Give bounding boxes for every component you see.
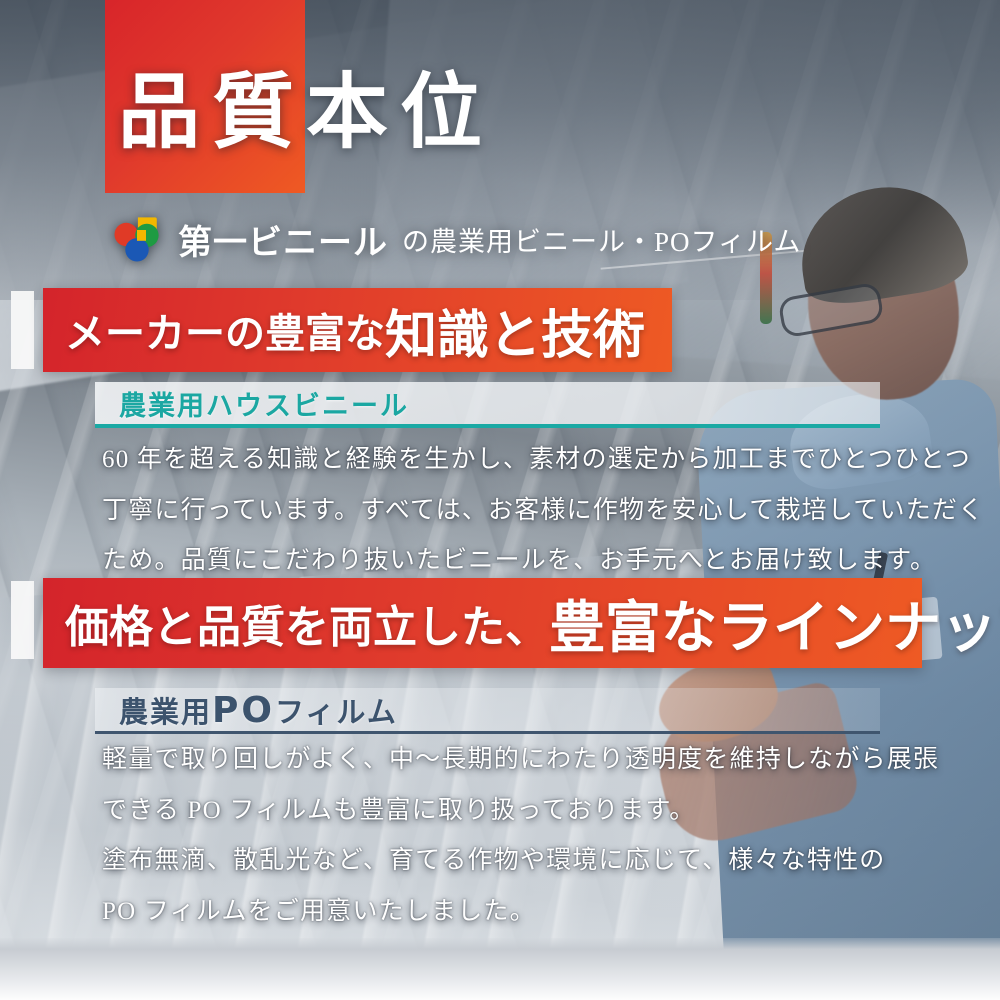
accent-tick-1 [11, 291, 34, 369]
section-body-vinyl: 60 年を超える知識と経験を生かし、素材の選定から加工までひとつひとつ 丁寧に行… [102, 440, 902, 592]
section-heading-po-prefix: 農業用 [119, 695, 212, 729]
brand-tagline: の農業用ビニール・POフィルム [402, 220, 801, 259]
brand-line: 第一ビニール の農業用ビニール・POフィルム [110, 212, 801, 266]
flower-pinwheel-logo-icon [110, 212, 164, 266]
body-line: 60 年を超える知識と経験を生かし、素材の選定から加工までひとつひとつ [102, 440, 902, 481]
section-heading-vinyl-label: 農業用ハウスビニール [119, 384, 409, 423]
banner-price-quality-lineup: 価格と品質を両立した、 豊富なラインナップ [43, 578, 922, 668]
section-heading-po-suffix: フィルム [275, 695, 398, 729]
page-title: 品質本位 [118, 72, 718, 154]
banner-2-large-text: 豊富なラインナップ [549, 583, 1000, 664]
content-overlay: 品質本位 第一ビニール の農業用ビニール・POフィルム メーカーの豊富な 知識と… [0, 0, 1000, 1000]
brand-name: 第一ビニール [178, 215, 388, 264]
section-heading-po-label: 農業用POフィルム [119, 689, 398, 731]
banner-1-large-text: 知識と技術 [385, 293, 645, 368]
banner-2-small-text: 価格と品質を両立した、 [65, 591, 549, 655]
body-line: ため。品質にこだわり抜いたビニールを、お手元へとお届け致します。 [102, 541, 902, 582]
banner-1-small-text: メーカーの豊富な [65, 301, 385, 359]
body-line: できる PO フィルムも豊富に取り扱っております。 [102, 791, 902, 832]
accent-tick-2 [11, 581, 34, 659]
section-heading-po-mark: PO [212, 690, 275, 731]
body-line: PO フィルムをご用意いたしました。 [102, 892, 902, 933]
body-line: 軽量で取り回しがよく、中〜長期的にわたり透明度を維持しながら展張 [102, 740, 902, 781]
banner-knowledge-technology: メーカーの豊富な 知識と技術 [43, 288, 672, 372]
body-line: 塗布無滴、散乱光など、育てる作物や環境に応じて、様々な特性の [102, 841, 902, 882]
promo-banner-page: 品質本位 第一ビニール の農業用ビニール・POフィルム メーカーの豊富な 知識と… [0, 0, 1000, 1000]
section-heading-vinyl: 農業用ハウスビニール [95, 382, 880, 428]
section-body-po: 軽量で取り回しがよく、中〜長期的にわたり透明度を維持しながら展張 できる PO … [102, 740, 902, 942]
body-line: 丁寧に行っています。すべては、お客様に作物を安心して栽培していただく [102, 491, 902, 532]
section-heading-po: 農業用POフィルム [95, 688, 880, 734]
